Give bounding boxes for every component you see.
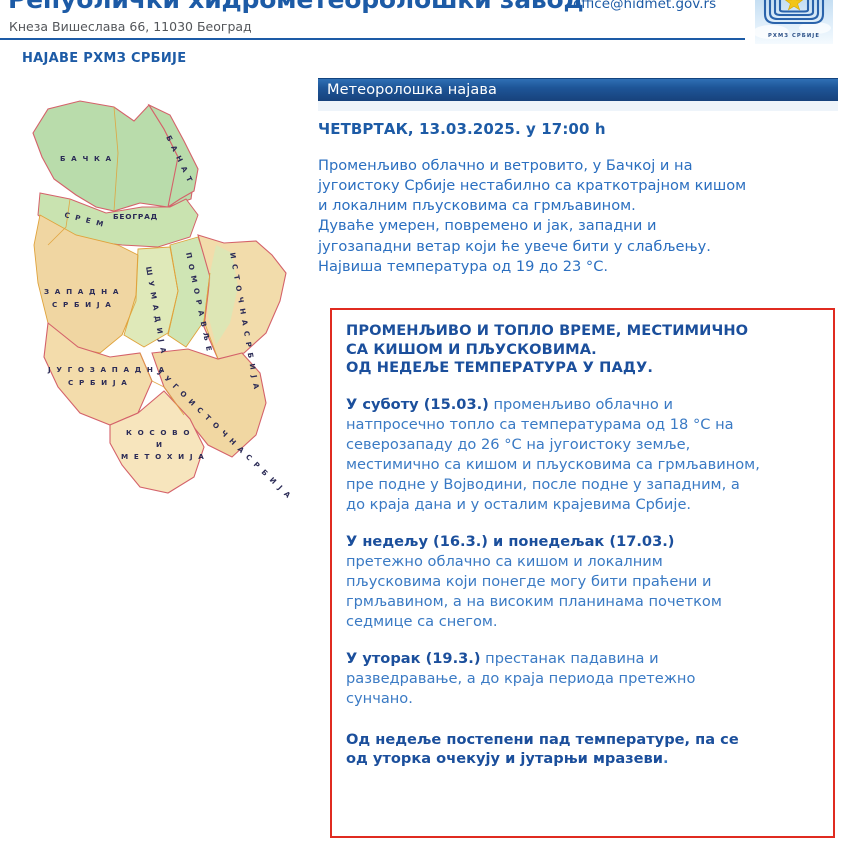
map-label-jugozapadna: Ј У Г О З А П А Д Н А xyxy=(47,365,166,374)
header-divider xyxy=(0,38,745,40)
map-label-zapadna: З А П А Д Н А xyxy=(44,287,120,296)
forecast-line: југозападни ветар који ће увече бити у с… xyxy=(318,237,838,257)
map-label-jugozapadna-srbija: С Р Б И Ј А xyxy=(68,378,128,387)
warning-headline: ПРОМЕНЉИВО И ТОПЛО ВРЕМЕ, МЕСТИМИЧНО СА … xyxy=(346,322,819,378)
warning-line: сунчано. xyxy=(346,689,819,709)
warning-paragraph-saturday: У суботу (15.03.) променљиво облачно и н… xyxy=(346,395,819,515)
warning-paragraph-tuesday: У уторак (19.3.) престанак падавина и ра… xyxy=(346,649,819,709)
warning-line: натпросечно топло са температурама од 18… xyxy=(346,415,819,435)
forecast-line: Дуваће умерен, повремено и јак, западни … xyxy=(318,216,838,236)
map-label-kosovo: К О С О В О xyxy=(126,428,191,437)
warning-line: разведравање, а до краја периода претежн… xyxy=(346,669,819,689)
organization-title: Републички хидрометеоролошки завод xyxy=(8,0,583,14)
warning-paragraph-sunday-monday: У недељу (16.3.) и понедељак (17.03.) пр… xyxy=(346,532,819,632)
map-label-backa: Б А Ч К А xyxy=(60,154,113,163)
page-section-title: НАЈАВЕ РХМЗ СРБИЈЕ xyxy=(22,51,186,66)
map-label-i: И xyxy=(156,440,164,449)
warning-line: У суботу (15.03.) променљиво облачно и xyxy=(346,395,819,415)
map-label-metohija: М Е Т О Х И Ј А xyxy=(121,452,205,461)
serbia-regions-map[interactable]: Б А Ч К А Б А Н А Т С Р Е М БЕОГРАД З А … xyxy=(18,95,313,515)
warning-summary-text: од уторка очекују и јутарњи мразеви xyxy=(346,750,663,767)
warning-line: седмице са снегом. xyxy=(346,612,819,632)
map-label-beograd: БЕОГРАД xyxy=(113,212,158,221)
weather-warning-box: ПРОМЕНЉИВО И ТОПЛО ВРЕМЕ, МЕСТИМИЧНО СА … xyxy=(330,308,835,838)
warning-line: У недељу (16.3.) и понедељак (17.03.) xyxy=(346,532,819,552)
map-label-zapadna-srbija: С Р Б И Ј А xyxy=(52,300,112,309)
warning-line: до краја дана и у осталим крајевима Срби… xyxy=(346,495,819,515)
announcement-banner: Метеоролошка најава xyxy=(318,78,838,101)
forecast-line: и локалним пљусковима са грмљавином. xyxy=(318,196,838,216)
warning-summary-tail: . xyxy=(663,750,669,767)
forecast-line: Променљиво облачно и ветровито, у Бачкој… xyxy=(318,156,838,176)
rhmz-logo[interactable]: РХМЗ СРБИЈЕ xyxy=(755,0,833,44)
warning-lead-sunday-monday: У недељу (16.3.) и понедељак (17.03.) xyxy=(346,533,674,550)
organization-address: Кнеза Вишеслава 66, 11030 Београд xyxy=(9,19,252,34)
announcement-panel: Метеоролошка најава ЧЕТВРТАК, 13.03.2025… xyxy=(318,78,838,277)
warning-lead-saturday: У суботу (15.03.) xyxy=(346,396,489,413)
announcement-banner-label: Метеоролошка најава xyxy=(327,82,497,98)
banner-underline-strip xyxy=(318,101,838,111)
warning-headline-line: ПРОМЕНЉИВО И ТОПЛО ВРЕМЕ, МЕСТИМИЧНО xyxy=(346,322,819,341)
warning-line-text: променљиво облачно и xyxy=(489,396,673,413)
water-waves-emblem-icon: РХМЗ СРБИЈЕ xyxy=(755,0,833,44)
warning-headline-line: СА КИШОМ И ПЉУСКОВИМА. xyxy=(346,341,819,360)
map-svg: Б А Ч К А Б А Н А Т С Р Е М БЕОГРАД З А … xyxy=(18,95,313,515)
warning-line: местимично са кишом и пљусковима са грмљ… xyxy=(346,455,819,475)
warning-line-text: престанак падавина и xyxy=(481,650,659,667)
contact-email[interactable]: office@hidmet.gov.rs xyxy=(573,0,716,12)
forecast-body: Променљиво облачно и ветровито, у Бачкој… xyxy=(318,156,838,277)
logo-caption: РХМЗ СРБИЈЕ xyxy=(768,33,820,39)
warning-summary-line: Од недеље постепени пад температуре, па … xyxy=(346,730,819,749)
warning-line: У уторак (19.3.) престанак падавина и xyxy=(346,649,819,669)
forecast-line: Највиша температура од 19 до 23 °C. xyxy=(318,257,838,277)
warning-summary-line: од уторка очекују и јутарњи мразеви. xyxy=(346,749,819,768)
warning-line: северозападу до 26 °C на југоистоку земљ… xyxy=(346,435,819,455)
warning-line: претежно облачно са кишом и локалним xyxy=(346,552,819,572)
warning-headline-line: ОД НЕДЕЉЕ ТЕМПЕРАТУРА У ПАДУ. xyxy=(346,359,819,378)
site-header: Републички хидрометеоролошки завод Кнеза… xyxy=(0,0,850,46)
warning-lead-tuesday: У уторак (19.3.) xyxy=(346,650,481,667)
warning-summary: Од недеље постепени пад температуре, па … xyxy=(346,730,819,769)
forecast-datetime: ЧЕТВРТАК, 13.03.2025. у 17:00 h xyxy=(318,120,838,138)
forecast-line: југоистоку Србије нестабилно са краткотр… xyxy=(318,176,838,196)
warning-line: грмљавином, а на високим планинама почет… xyxy=(346,592,819,612)
warning-line: пљусковима који понегде могу бити праћен… xyxy=(346,572,819,592)
warning-line: пре подне у Војводини, после подне у зап… xyxy=(346,475,819,495)
